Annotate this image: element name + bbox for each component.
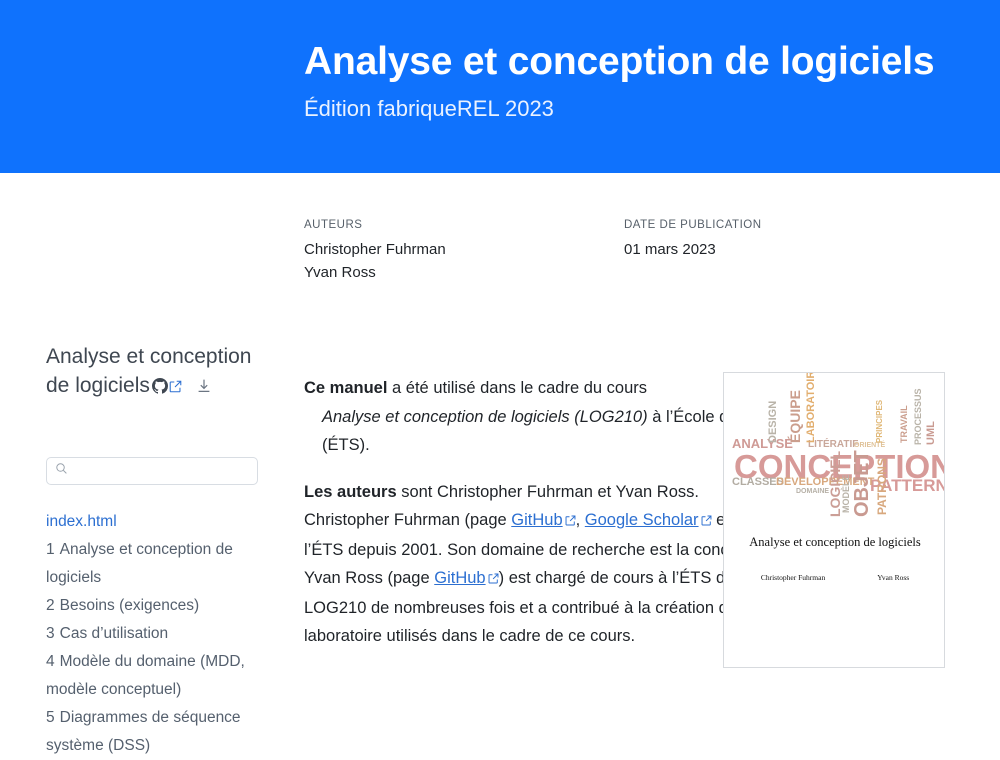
cloud-word: UML [926,421,937,445]
chapter-number: 1 [46,541,55,558]
sidebar-item-label: Besoins (exigences) [60,597,200,614]
cover-wordcloud: CONCEPTIONPATTERNSANALYSECLASSESDÉVELOPP… [724,395,945,517]
author-name: Christopher Fuhrman [304,238,624,261]
cloud-word: ÉQUIPE [788,390,802,443]
sidebar-item-chapter-1[interactable]: 1Analyse et conception de logiciels [46,536,268,592]
download-icon[interactable] [196,373,212,402]
sidebar-item-chapter-4[interactable]: 4Modèle du domaine (MDD, modèle conceptu… [46,648,268,704]
cloud-word: PRINCIPES [876,400,884,443]
external-link-icon [701,507,712,536]
authors-label: AUTEURS [304,216,624,234]
sidebar-item-label: Cas d’utilisation [60,625,169,642]
github-icon[interactable] [152,373,168,402]
separator-comma: , [576,511,585,529]
publication-metadata: AUTEURS Christopher Fuhrman Yvan Ross DA… [304,216,944,284]
link-github-fuhrman[interactable]: GitHub [511,511,562,529]
course-title-italic: Analyse et conception de logiciels (LOG2… [322,408,648,426]
cloud-word: DESIGN [768,401,779,443]
sidebar-book-title: Analyse et conception de logiciels [46,342,260,402]
link-github-ross[interactable]: GitHub [434,569,485,587]
sidebar-nav: index.html 1Analyse et conception de log… [46,508,268,760]
cover-title: Analyse et conception de logiciels [724,535,945,550]
fuhrman-pre: Christopher Fuhrman (page [304,511,511,529]
banner-text-block: Analyse et conception de logiciels Éditi… [304,38,944,124]
external-link-icon[interactable] [169,372,182,401]
manual-lead-rest: a été utilisé dans le cadre du cours [387,379,647,397]
sidebar-book-title-text: Analyse et conception de logiciels [46,345,251,397]
chapter-number: 5 [46,709,55,726]
link-google-scholar[interactable]: Google Scholar [585,511,699,529]
link-label: GitHub [434,569,485,587]
search-box[interactable] [46,457,258,485]
cover-author-name: Yvan Ross [877,573,909,582]
search-input[interactable] [74,463,249,480]
author-name: Yvan Ross [304,261,624,284]
sidebar-item-chapter-2[interactable]: 2Besoins (exigences) [46,592,268,620]
sidebar-item-label: Modèle du domaine (MDD, modèle conceptue… [46,653,245,698]
ross-pre: Yvan Ross (page [304,569,434,587]
authors-lead-bold: Les auteurs [304,483,397,501]
date-block: DATE DE PUBLICATION 01 mars 2023 [624,216,944,284]
cloud-word: OBJET [852,450,872,517]
cloud-word: PROCESSUS [914,388,923,445]
cloud-word: LOGICIEL [828,451,842,517]
chapter-number: 3 [46,625,55,642]
cloud-word: ANALYSE [732,437,793,450]
date-value: 01 mars 2023 [624,238,944,261]
sidebar-item-label: Analyse et conception de logiciels [46,541,233,586]
page-title: Analyse et conception de logiciels [304,38,944,86]
link-label: GitHub [511,511,562,529]
book-cover-thumbnail[interactable]: CONCEPTIONPATTERNSANALYSECLASSESDÉVELOPP… [723,372,945,668]
chapter-number: 4 [46,653,55,670]
cloud-word: PATRONS [876,458,888,515]
manual-lead-bold: Ce manuel [304,379,387,397]
search-icon [55,462,68,480]
cover-authors: Christopher Fuhrman Yvan Ross [724,573,945,582]
external-link-icon [488,565,499,594]
external-link-icon [565,507,576,536]
cloud-word: DOMAINE [796,488,829,495]
sidebar-item-label: index.html [46,513,117,530]
link-label: Google Scholar [585,511,699,529]
page-banner: Analyse et conception de logiciels Éditi… [0,0,1000,173]
cloud-word: TRAVAIL [900,405,909,443]
cloud-word: MODÈLE [842,474,851,513]
sidebar-item-label: Diagrammes de séquence système (DSS) [46,709,241,754]
sidebar: Analyse et conception de logiciels index… [46,342,260,402]
chapter-number: 2 [46,597,55,614]
sidebar-item-chapter-3[interactable]: 3Cas d’utilisation [46,620,268,648]
page-subtitle: Édition fabriqueREL 2023 [304,94,944,124]
cloud-word: ORIENTÉ [854,442,885,449]
cloud-word: LABORATOIRE [806,372,817,443]
date-label: DATE DE PUBLICATION [624,216,944,234]
authors-lead-rest: sont Christopher Fuhrman et Yvan Ross. [397,483,699,501]
authors-block: AUTEURS Christopher Fuhrman Yvan Ross [304,216,624,284]
sidebar-item-index[interactable]: index.html [46,508,268,536]
cover-author-name: Christopher Fuhrman [761,573,825,582]
sidebar-item-chapter-5[interactable]: 5Diagrammes de séquence système (DSS) [46,704,268,760]
sidebar-icon-group [150,371,212,402]
